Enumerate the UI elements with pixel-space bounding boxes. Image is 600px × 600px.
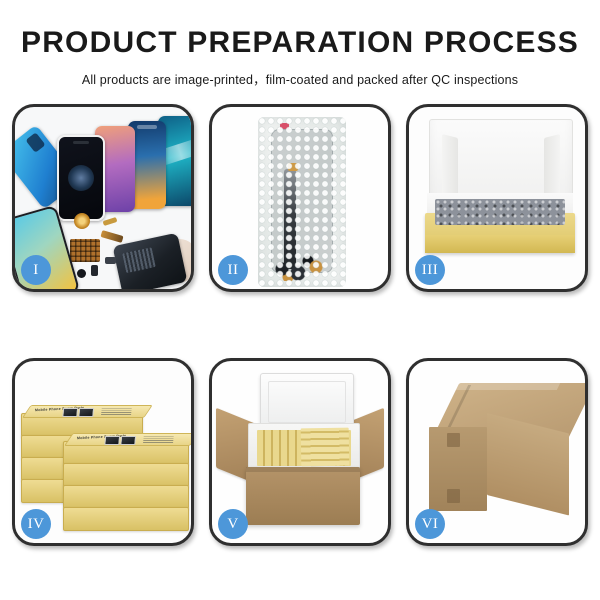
process-step-1: I bbox=[12, 104, 194, 292]
circuit-grid-icon bbox=[70, 239, 100, 262]
spare-part-box-icon bbox=[63, 507, 189, 531]
carton-body-icon bbox=[246, 467, 360, 525]
process-step-5: V bbox=[209, 358, 391, 546]
copper-coil-icon bbox=[74, 213, 90, 229]
process-step-4: Mobile Phone Spare Parts Mobile Phone Sp… bbox=[12, 358, 194, 546]
tray-front-panel-icon bbox=[425, 235, 575, 253]
step-badge-1: I bbox=[21, 255, 51, 285]
step-badge-3: III bbox=[415, 255, 445, 285]
spare-part-box-icon bbox=[63, 485, 189, 509]
box-stack-icon: Mobile Phone Spare Parts Mobile Phone Sp… bbox=[21, 379, 189, 531]
component-chip-icon bbox=[91, 265, 98, 276]
packed-yellow-boxes-icon bbox=[301, 428, 350, 467]
box-artwork-icon bbox=[120, 436, 136, 445]
process-step-2: II bbox=[209, 104, 391, 292]
process-step-3: III bbox=[406, 104, 588, 292]
step-badge-2: II bbox=[218, 255, 248, 285]
component-chip-icon bbox=[105, 257, 116, 264]
step-badge-6: VI bbox=[415, 509, 445, 539]
header: PRODUCT PREPARATION PROCESS All products… bbox=[0, 0, 600, 88]
process-step-6: VI bbox=[406, 358, 588, 546]
box-lid-icon: Mobile Phone Spare Parts bbox=[22, 405, 153, 418]
carton-handle-tab-icon bbox=[447, 489, 460, 503]
flex-cable-icon bbox=[100, 230, 123, 243]
spare-part-box-icon bbox=[63, 463, 189, 487]
product-preparation-infographic: PRODUCT PREPARATION PROCESS All products… bbox=[0, 0, 600, 600]
bubble-texture-icon bbox=[258, 117, 346, 287]
phone-back-housing-icon bbox=[113, 233, 188, 289]
bubble-wrap-bag-icon bbox=[258, 117, 346, 287]
speaker-icon bbox=[77, 269, 86, 278]
box-spec-lines-icon bbox=[143, 436, 174, 443]
box-artwork-icon bbox=[62, 408, 78, 417]
grey-foam-pad-icon bbox=[435, 199, 565, 225]
black-screen-protector-icon bbox=[57, 135, 105, 221]
box-artwork-icon bbox=[104, 436, 120, 445]
box-lid-icon: Mobile Phone Spare Parts bbox=[64, 433, 191, 446]
box-artwork-icon bbox=[78, 408, 94, 417]
step-badge-4: IV bbox=[21, 509, 51, 539]
page-title: PRODUCT PREPARATION PROCESS bbox=[0, 28, 600, 58]
spare-part-box-icon: Mobile Phone Spare Parts bbox=[63, 441, 189, 465]
carton-handle-tab-icon bbox=[447, 433, 460, 447]
step-badge-5: V bbox=[218, 509, 248, 539]
page-subtitle: All products are image-printed，film-coat… bbox=[0, 69, 600, 88]
carton-tape-icon bbox=[437, 381, 561, 390]
box-spec-lines-icon bbox=[101, 408, 132, 415]
yellow-box-tray-icon bbox=[425, 213, 575, 253]
gold-flex-strip-icon bbox=[103, 217, 118, 226]
process-step-grid: I II bbox=[12, 104, 588, 546]
